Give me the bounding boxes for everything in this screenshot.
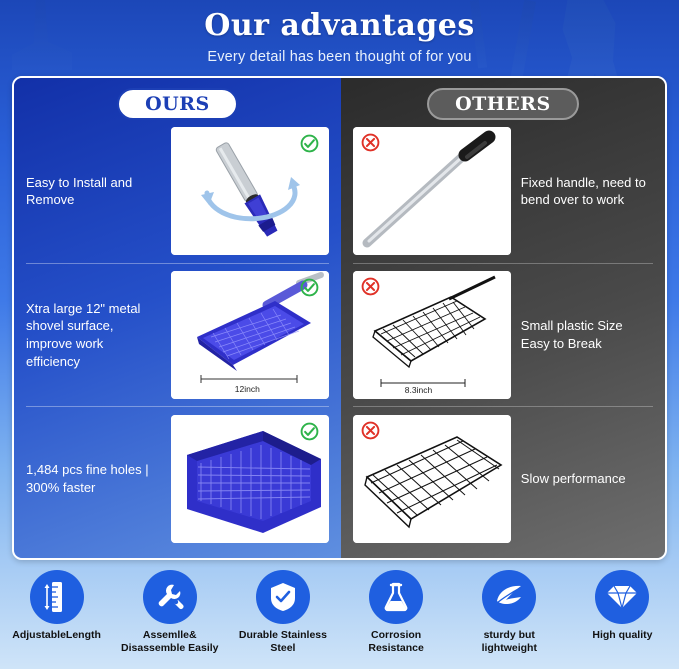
others-row-2-caption: 8.3inch <box>405 385 432 395</box>
others-row-3: Slow performance <box>353 406 653 550</box>
page-title: Our advantages <box>0 8 679 43</box>
comparison-panel: OURS Easy to Install and Remove <box>12 76 667 560</box>
feature-label: Durable Stainless Steel <box>228 629 337 655</box>
ours-row-1-text: Easy to Install and Remove <box>26 174 161 209</box>
ours-row-2: Xtra large 12" metal shovel surface, imp… <box>26 263 329 407</box>
feature-label: AdjustableLength <box>2 629 111 642</box>
feature-sturdy-but-lightweight: sturdy but lightweight <box>453 570 566 655</box>
diamond-icon <box>595 570 649 624</box>
wrench-screwdriver-icon <box>143 570 197 624</box>
ours-row-3: 1,484 pcs fine holes | 300% faster <box>26 406 329 550</box>
cross-icon <box>361 277 380 296</box>
check-icon <box>300 134 319 153</box>
feature-high-quality: High quality <box>566 570 679 642</box>
check-icon <box>300 422 319 441</box>
check-icon <box>300 278 319 297</box>
ours-row-3-image <box>171 415 329 543</box>
others-row-3-text: Slow performance <box>521 470 653 488</box>
feature-label: High quality <box>568 629 677 642</box>
ours-row-2-text: Xtra large 12" metal shovel surface, imp… <box>26 300 161 370</box>
ours-rows: Easy to Install and Remove <box>26 120 329 550</box>
feature-adjustable-length: AdjustableLength <box>0 570 113 642</box>
feature-assemble-disassemble: Assemlle& Disassemble Easily <box>113 570 226 655</box>
ours-row-1-image <box>171 127 329 255</box>
shield-check-icon <box>256 570 310 624</box>
feather-icon <box>482 570 536 624</box>
ours-row-2-image: 12inch <box>171 271 329 399</box>
ours-badge: OURS <box>117 88 238 120</box>
cross-icon <box>361 421 380 440</box>
ours-row-2-caption: 12inch <box>235 384 260 394</box>
flask-icon <box>369 570 423 624</box>
feature-corrosion-resistance: Corrosion Resistance <box>340 570 453 655</box>
others-column: OTHERS Fixed handle, need t <box>341 78 665 558</box>
ours-row-3-text: 1,484 pcs fine holes | 300% faster <box>26 461 161 496</box>
others-rows: Fixed handle, need to bend over to work <box>353 120 653 550</box>
others-row-1-image <box>353 127 511 255</box>
ours-column: OURS Easy to Install and Remove <box>14 78 341 558</box>
header: Our advantages Every detail has been tho… <box>0 0 679 72</box>
others-row-2-text: Small plastic Size Easy to Break <box>521 317 653 352</box>
ruler-icon <box>30 570 84 624</box>
ours-badge-wrapper: OURS <box>26 88 329 120</box>
page-subtitle: Every detail has been thought of for you <box>0 49 679 65</box>
others-badge-wrapper: OTHERS <box>353 88 653 120</box>
feature-durable-stainless-steel: Durable Stainless Steel <box>226 570 339 655</box>
cross-icon <box>361 133 380 152</box>
ours-row-1: Easy to Install and Remove <box>26 120 329 263</box>
feature-label: Assemlle& Disassemble Easily <box>115 629 224 655</box>
feature-label: sturdy but lightweight <box>455 629 564 655</box>
feature-label: Corrosion Resistance <box>342 629 451 655</box>
others-row-2: 8.3inch Small plastic Size Easy to Break <box>353 263 653 407</box>
feature-strip: AdjustableLength Assemlle& Disassemble E… <box>0 564 679 669</box>
others-row-1: Fixed handle, need to bend over to work <box>353 120 653 263</box>
others-row-1-text: Fixed handle, need to bend over to work <box>521 174 653 209</box>
others-row-3-image <box>353 415 511 543</box>
others-row-2-image: 8.3inch <box>353 271 511 399</box>
others-badge: OTHERS <box>427 88 579 120</box>
